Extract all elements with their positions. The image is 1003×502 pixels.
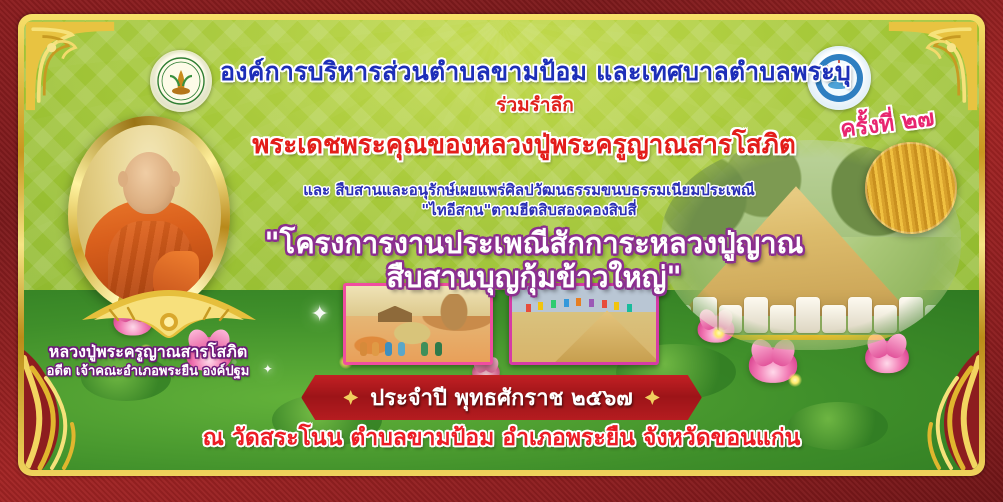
mural-figure <box>372 342 379 356</box>
festival-flag <box>602 300 607 308</box>
banner-artwork-stage: ✦ ✦ ✦ ✦ ✦ <box>24 20 979 470</box>
commemoration-label: ร่วมรำลึก <box>220 90 850 120</box>
rice-sack <box>770 305 794 334</box>
mural-figure <box>421 342 428 356</box>
rosette-icon <box>343 390 358 405</box>
monk-ear <box>170 171 180 187</box>
rice-sack <box>822 305 846 334</box>
rice-sack <box>667 305 691 334</box>
rice-sack <box>899 297 923 333</box>
rice-sack <box>744 297 768 333</box>
festival-flag <box>526 304 531 312</box>
bokeh-glow <box>788 373 802 387</box>
mural-figure <box>398 342 405 356</box>
rice-sack <box>719 305 743 334</box>
subtitle-line-2: "ไทอีสาน"ตามฮีตสิบสองคองสิบสี่ <box>204 198 854 222</box>
festival-flag <box>538 302 543 310</box>
lotus-flower <box>866 341 910 373</box>
organization-title: องค์การบริหารส่วนตำบลขามป้อม และเทศบาลตำ… <box>220 52 850 92</box>
monk-head <box>123 152 175 214</box>
sparkle: ✦ <box>311 301 329 327</box>
rice-sack <box>693 297 717 333</box>
event-banner: ✦ ✦ ✦ ✦ ✦ <box>0 0 1003 502</box>
rice-sack <box>874 305 898 334</box>
festival-flag <box>564 299 569 307</box>
festival-flag <box>551 300 556 308</box>
rice-sack <box>796 297 820 333</box>
mural-figure <box>385 342 392 356</box>
rice-sack <box>925 305 949 334</box>
festival-flag <box>627 304 632 312</box>
mural-tree <box>435 294 472 338</box>
golden-rice-stalks-inset <box>865 142 957 234</box>
monk-position-caption: อดีต เจ้าคณะอำเภอพระยืน องค์ปฐม <box>24 360 272 381</box>
rice-sack <box>848 297 872 333</box>
monk-ear <box>118 171 128 187</box>
rosette-icon <box>645 390 660 405</box>
festival-flag <box>614 302 619 310</box>
honoree-title: พระเดชพระคุณของหลวงปู่พระครูญาณสารโสภิต <box>174 124 874 165</box>
mural-figure <box>435 342 442 356</box>
festival-flag <box>589 299 594 307</box>
project-title-line-2: สืบสานบุญกุ้มข้าวใหญ่" <box>214 254 854 300</box>
mural-figure <box>360 342 367 356</box>
gold-ribbon <box>673 335 949 340</box>
festival-rice-mound <box>555 310 659 362</box>
subdistrict-administrative-organization-seal-icon <box>150 50 212 112</box>
year-ribbon-banner: ประจำปี พุทธศักราช ๒๕๖๗ <box>301 375 702 420</box>
venue-line: ณ วัดสระโนน ตำบลขามป้อม อำเภอพระยืน จังห… <box>24 420 979 456</box>
year-text: ประจำปี พุทธศักราช ๒๕๖๗ <box>370 380 633 415</box>
